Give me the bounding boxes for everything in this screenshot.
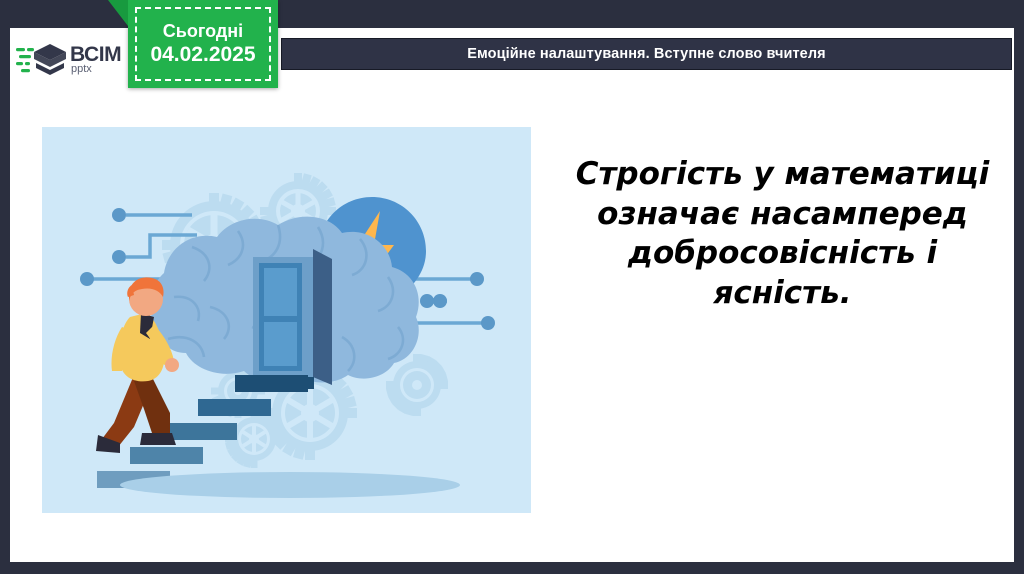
badge-fold-corner [108, 0, 128, 26]
badge-inner-frame: Сьогодні 04.02.2025 [135, 7, 271, 81]
stair-step-4 [198, 399, 271, 416]
slide-header-bar: Емоційне налаштування. Вступне слово вчи… [281, 38, 1012, 70]
badge-date-value: 04.02.2025 [150, 44, 255, 66]
date-badge: Сьогодні 04.02.2025 [128, 0, 278, 88]
logo-brand-text: ВСІМ [70, 44, 121, 65]
ground-shadow [120, 472, 460, 498]
stair-step-3 [164, 423, 237, 440]
brand-logo[interactable]: ВСІМ pptx [10, 28, 130, 90]
slide-header-title: Емоційне налаштування. Вступне слово вчи… [467, 46, 825, 62]
illustration-image [42, 127, 531, 513]
quote-text: Строгість у математиці означає насампере… [575, 155, 990, 314]
badge-today-label: Сьогодні [163, 22, 243, 41]
slide-root: ВСІМ pptx Сьогодні 04.02.2025 Емоційне н… [0, 0, 1024, 574]
graduation-cap-icon [16, 39, 68, 79]
stair-step-5 [235, 375, 308, 392]
logo-wordmark: ВСІМ pptx [70, 44, 121, 75]
door-icon [248, 249, 332, 389]
stair-step-2 [130, 447, 203, 464]
